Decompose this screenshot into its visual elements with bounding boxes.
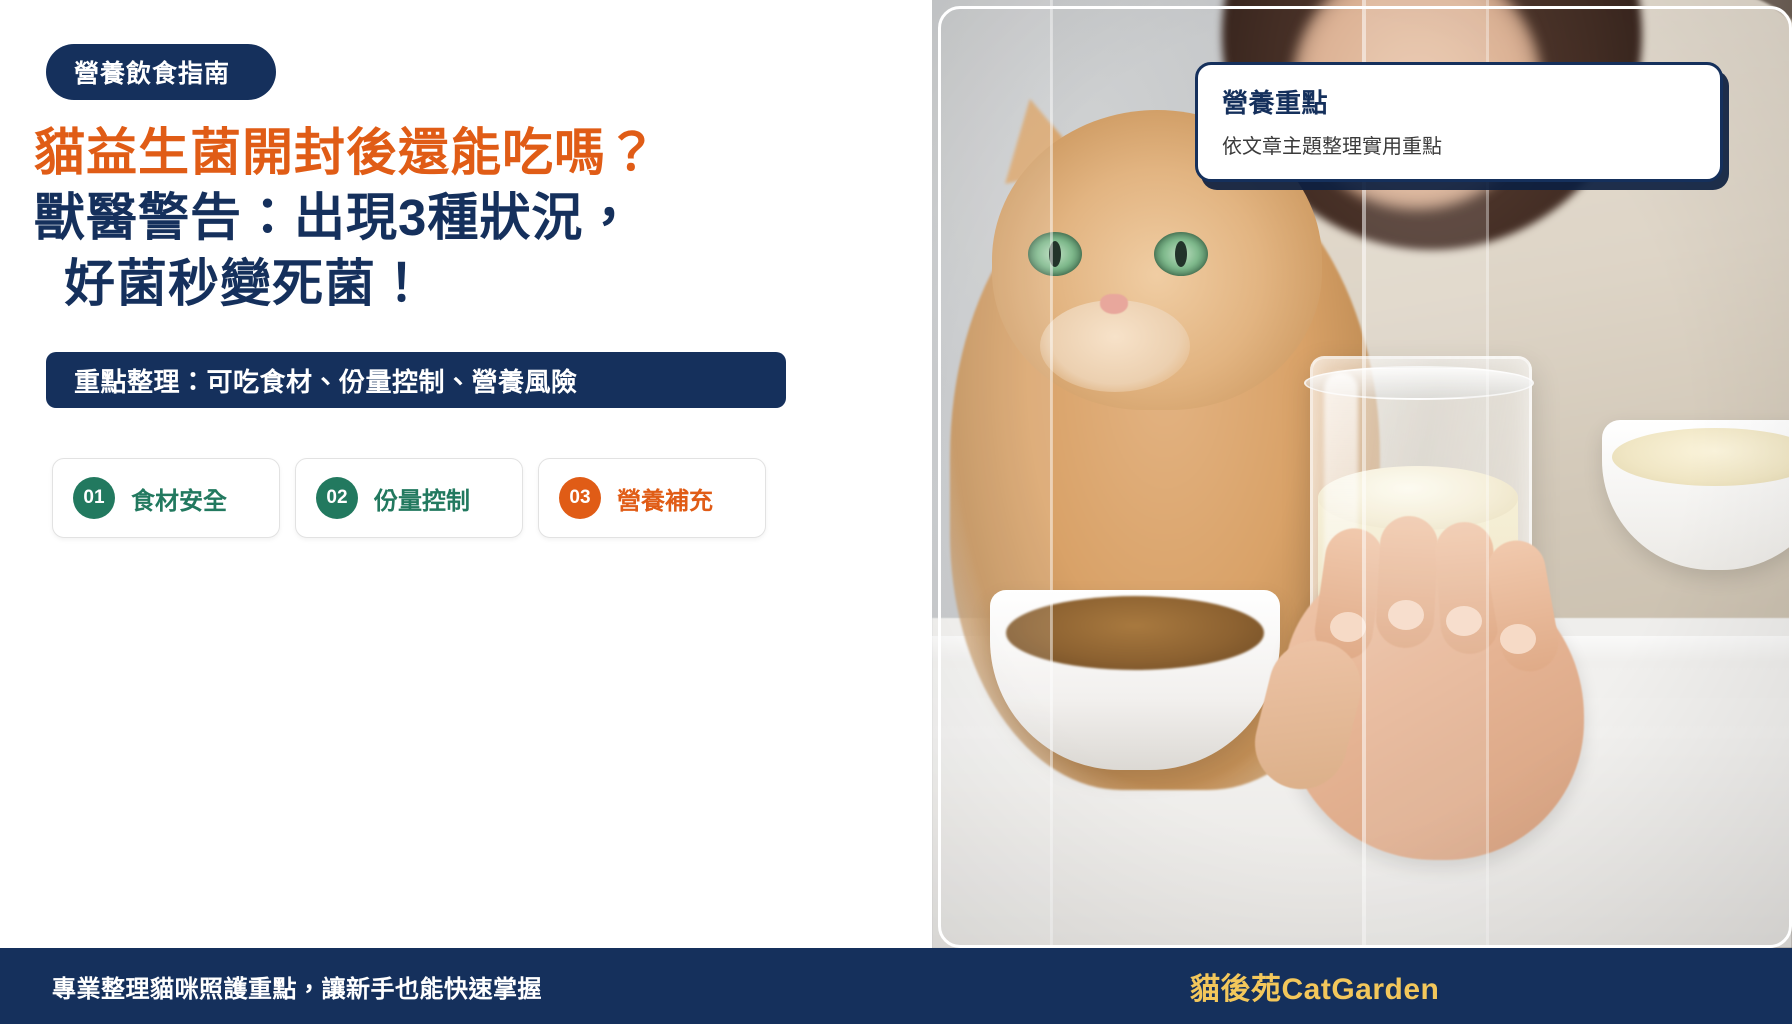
highlight-chip-1[interactable]: 01 食材安全 <box>52 458 280 538</box>
nutrition-highlight-card: 營養重點 依文章主題整理實用重點 <box>1195 62 1723 182</box>
title-line-2: 獸醫警告：出現3種狀況， <box>34 185 794 250</box>
footer-brand-logo: 貓後苑CatGarden <box>1190 964 1439 1008</box>
footer-tagline: 專業整理貓咪照護重點，讓新手也能快速掌握 <box>52 969 542 1004</box>
title-line-3: 好菌秒變死菌！ <box>34 251 794 316</box>
chip-label-2: 份量控制 <box>374 481 470 516</box>
highlight-chip-list: 01 食材安全 02 份量控制 03 營養補充 <box>52 458 766 538</box>
title-line-1: 貓益生菌開封後還能吃嗎？ <box>34 120 794 185</box>
chip-number-badge-2: 02 <box>316 477 358 519</box>
footer-bar: 專業整理貓咪照護重點，讓新手也能快速掌握 貓後苑CatGarden <box>0 948 1792 1024</box>
page-title: 貓益生菌開封後還能吃嗎？ 獸醫警告：出現3種狀況， 好菌秒變死菌！ <box>34 120 794 316</box>
chip-label-1: 食材安全 <box>131 481 227 516</box>
highlight-chip-2[interactable]: 02 份量控制 <box>295 458 523 538</box>
chip-number-badge-1: 01 <box>73 477 115 519</box>
banner-root: 營養飲食指南 貓益生菌開封後還能吃嗎？ 獸醫警告：出現3種狀況， 好菌秒變死菌！… <box>0 0 1792 1024</box>
nutrition-card-subtitle: 依文章主題整理實用重點 <box>1222 130 1696 159</box>
chip-number-badge-3: 03 <box>559 477 601 519</box>
chip-label-3: 營養補充 <box>617 481 713 516</box>
subtitle-bar: 重點整理：可吃食材、份量控制、營養風險 <box>46 352 786 408</box>
category-badge: 營養飲食指南 <box>46 44 276 100</box>
nutrition-card-title: 營養重點 <box>1222 83 1696 120</box>
highlight-chip-3[interactable]: 03 營養補充 <box>538 458 766 538</box>
